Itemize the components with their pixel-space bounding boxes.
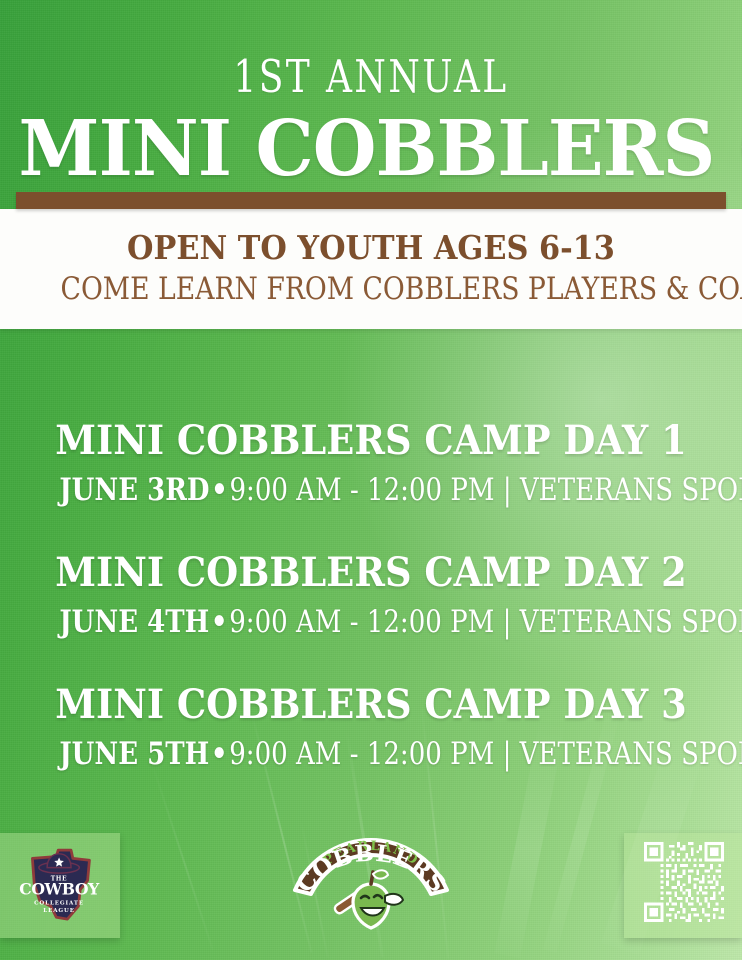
pear-mascot-icon: PEARLAND COBBLERS xyxy=(281,828,461,948)
svg-text:LEAGUE: LEAGUE xyxy=(43,908,75,914)
cowboy-collegiate-league-logo: THE COWBOY COLLEGIATE LEAGUE xyxy=(14,840,106,932)
day-separator: • xyxy=(209,736,229,772)
banner-headline: OPEN TO YOUTH AGES 6-13 xyxy=(39,231,703,264)
header-divider-bar xyxy=(16,192,726,209)
day-date: JUNE 5TH xyxy=(59,736,209,772)
schedule-day-2: MINI COBBLERS CAMP DAY 2 JUNE 4TH•9:00 A… xyxy=(0,553,742,638)
day-title: MINI COBBLERS CAMP DAY 2 xyxy=(30,553,713,593)
banner-subheadline: COME LEARN FROM COBBLERS PLAYERS & COACH… xyxy=(61,274,682,305)
day-separator: • xyxy=(209,604,229,640)
svg-text:COWBOY: COWBOY xyxy=(19,879,100,898)
day-date: JUNE 3RD xyxy=(59,472,209,508)
flyer-header: 1ST ANNUAL MINI COBBLERS CAMP xyxy=(0,0,742,186)
cowboy-hat-icon: THE COWBOY COLLEGIATE LEAGUE xyxy=(14,840,106,932)
day-date: JUNE 4TH xyxy=(59,604,209,640)
eligibility-banner: OPEN TO YOUTH AGES 6-13 COME LEARN FROM … xyxy=(0,209,742,329)
qr-code[interactable] xyxy=(644,842,724,922)
day-time-venue: 9:00 AM - 12:00 PM | VETERANS SPORTS COM… xyxy=(229,472,742,508)
day-title: MINI COBBLERS CAMP DAY 3 xyxy=(30,685,713,725)
day-time-venue: 9:00 AM - 12:00 PM | VETERANS SPORTS COM… xyxy=(229,736,742,772)
page-title: MINI COBBLERS CAMP xyxy=(19,113,724,186)
pearland-cobblers-logo: PEARLAND COBBLERS xyxy=(281,828,461,948)
schedule-list: MINI COBBLERS CAMP DAY 1 JUNE 3RD•9:00 A… xyxy=(0,421,742,770)
day-title: MINI COBBLERS CAMP DAY 1 xyxy=(30,421,713,461)
kicker-text: 1ST ANNUAL xyxy=(74,54,668,99)
qr-code-icon[interactable] xyxy=(644,842,724,922)
day-detail: JUNE 4TH•9:00 AM - 12:00 PM | VETERANS S… xyxy=(59,607,682,638)
day-detail: JUNE 5TH•9:00 AM - 12:00 PM | VETERANS S… xyxy=(59,739,682,770)
camp-flyer: 1ST ANNUAL MINI COBBLERS CAMP OPEN TO YO… xyxy=(0,0,742,960)
flyer-footer: THE COWBOY COLLEGIATE LEAGUE PEARLAND xyxy=(0,825,742,960)
svg-text:COLLEGIATE: COLLEGIATE xyxy=(34,900,84,906)
schedule-day-1: MINI COBBLERS CAMP DAY 1 JUNE 3RD•9:00 A… xyxy=(0,421,742,506)
day-separator: • xyxy=(209,472,229,508)
day-detail: JUNE 3RD•9:00 AM - 12:00 PM | VETERANS S… xyxy=(59,475,682,506)
day-time-venue: 9:00 AM - 12:00 PM | VETERANS SPORTS COM… xyxy=(229,604,742,640)
schedule-day-3: MINI COBBLERS CAMP DAY 3 JUNE 5TH•9:00 A… xyxy=(0,685,742,770)
